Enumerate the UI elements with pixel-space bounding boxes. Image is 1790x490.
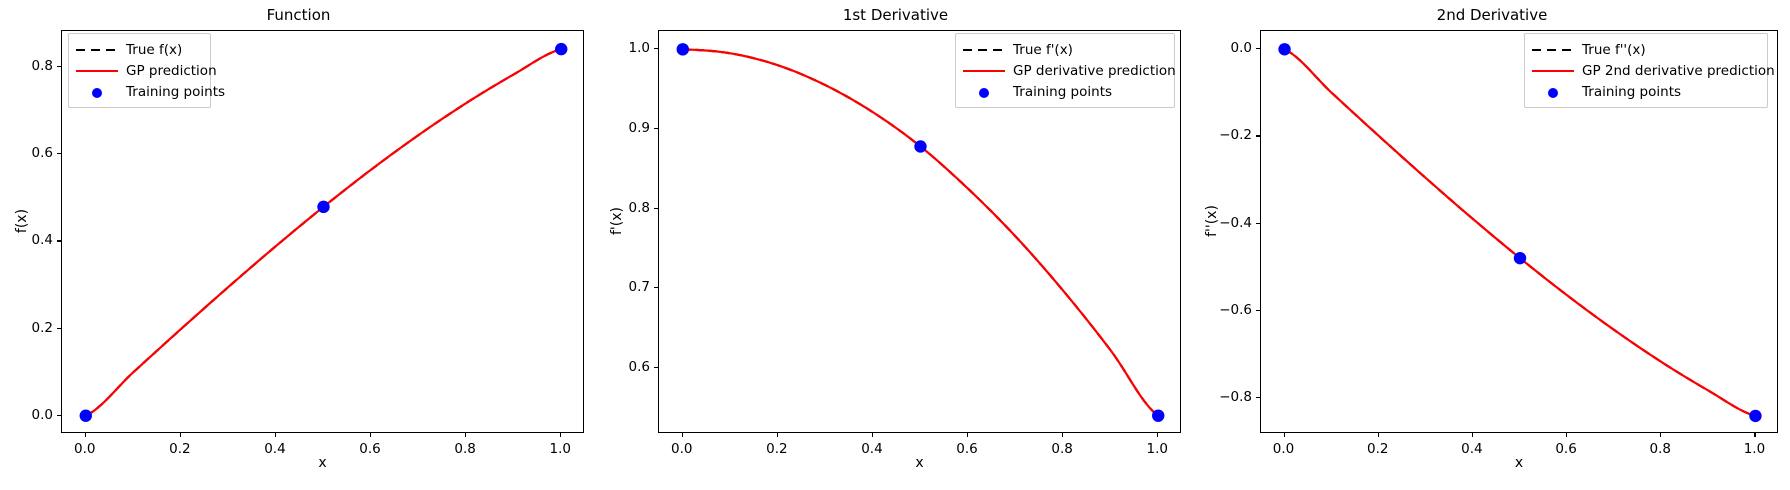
y-tick-mark — [654, 48, 658, 49]
x-tick-mark — [1566, 433, 1567, 437]
solid-line-icon-glyph — [963, 70, 1005, 72]
legend-label: GP prediction — [126, 63, 217, 79]
y-tick-label: 0.0 — [3, 407, 53, 423]
y-tick-mark — [654, 367, 658, 368]
dashed-line-icon — [1532, 42, 1574, 58]
training-point-marker — [1152, 409, 1164, 421]
y-axis-label: f(x) — [14, 191, 30, 251]
dashed-line-icon — [76, 42, 118, 58]
y-tick-mark — [1256, 310, 1260, 311]
solid-line-icon — [1532, 63, 1574, 79]
y-tick-mark — [654, 287, 658, 288]
dashed-line-icon-glyph — [76, 49, 118, 51]
panel-first-derivative: 1st Derivative 0.00.20.40.60.81.00.60.70… — [597, 0, 1194, 490]
y-tick-label: 1.0 — [600, 40, 650, 56]
x-tick-mark — [1754, 433, 1755, 437]
y-tick-mark — [1256, 135, 1260, 136]
dot-marker-icon — [1532, 84, 1574, 100]
y-tick-label: 0.0 — [1202, 40, 1252, 56]
x-axis-label: x — [1260, 455, 1778, 471]
x-tick-mark — [1062, 433, 1063, 437]
legend-label: True f''(x) — [1582, 42, 1646, 58]
y-tick-label: 0.8 — [600, 200, 650, 216]
figure-canvas: Function 0.00.20.40.60.81.00.00.20.40.60… — [0, 0, 1790, 490]
y-tick-label: −0.8 — [1202, 389, 1252, 405]
solid-line-icon — [963, 63, 1005, 79]
y-tick-mark — [57, 415, 61, 416]
training-point-marker — [914, 140, 926, 152]
x-tick-mark — [1157, 433, 1158, 437]
y-tick-label: 0.2 — [3, 320, 53, 336]
legend-item[interactable]: True f(x) — [76, 39, 203, 60]
training-point-marker — [677, 43, 689, 55]
x-tick-mark — [85, 433, 86, 437]
y-tick-mark — [1256, 223, 1260, 224]
x-tick-mark — [967, 433, 968, 437]
dot-marker-icon — [76, 84, 118, 100]
y-tick-mark — [57, 153, 61, 154]
y-tick-mark — [57, 66, 61, 67]
training-point-marker — [1514, 252, 1526, 264]
solid-line-icon — [76, 63, 118, 79]
x-tick-mark — [560, 433, 561, 437]
x-tick-mark — [1472, 433, 1473, 437]
legend[interactable]: True f''(x)GP 2nd derivative predictionT… — [1524, 33, 1768, 108]
solid-line-icon-glyph — [76, 70, 118, 72]
panel-title: 1st Derivative — [597, 6, 1194, 24]
y-tick-label: 0.6 — [600, 359, 650, 375]
legend-item[interactable]: Training points — [76, 81, 203, 102]
dashed-line-icon — [963, 42, 1005, 58]
y-tick-label: 0.7 — [600, 279, 650, 295]
dot-marker-icon — [963, 84, 1005, 100]
training-point-marker — [555, 43, 567, 55]
legend-label: Training points — [1582, 84, 1681, 100]
legend-item[interactable]: Training points — [1532, 81, 1760, 102]
x-tick-mark — [180, 433, 181, 437]
legend[interactable]: True f(x)GP predictionTraining points — [68, 33, 211, 108]
x-tick-mark — [1284, 433, 1285, 437]
panel-second-derivative: 2nd Derivative 0.00.20.40.60.81.00.0−0.2… — [1194, 0, 1790, 490]
legend-item[interactable]: True f'(x) — [963, 39, 1167, 60]
y-tick-mark — [654, 208, 658, 209]
legend-item[interactable]: GP prediction — [76, 60, 203, 81]
x-tick-mark — [1660, 433, 1661, 437]
solid-line-icon-glyph — [1532, 70, 1574, 72]
x-tick-mark — [872, 433, 873, 437]
legend-item[interactable]: Training points — [963, 81, 1167, 102]
legend-label: Training points — [1013, 84, 1112, 100]
x-tick-mark — [1378, 433, 1379, 437]
dot-marker-icon-glyph — [92, 88, 102, 98]
x-tick-mark — [777, 433, 778, 437]
y-axis-label: f''(x) — [1204, 191, 1220, 251]
y-tick-label: −0.6 — [1202, 302, 1252, 318]
training-point-marker — [1278, 43, 1290, 55]
y-tick-mark — [57, 328, 61, 329]
panel-title: Function — [0, 6, 597, 24]
x-tick-mark — [275, 433, 276, 437]
y-tick-mark — [654, 128, 658, 129]
legend-item[interactable]: GP 2nd derivative prediction — [1532, 60, 1760, 81]
panel-title: 2nd Derivative — [1194, 6, 1790, 24]
x-axis-label: x — [658, 455, 1181, 471]
legend-label: True f'(x) — [1013, 42, 1073, 58]
x-tick-mark — [370, 433, 371, 437]
legend-label: True f(x) — [126, 42, 182, 58]
legend-label: GP derivative prediction — [1013, 63, 1176, 79]
y-tick-label: 0.6 — [3, 145, 53, 161]
legend-label: GP 2nd derivative prediction — [1582, 63, 1775, 79]
x-axis-label: x — [61, 455, 584, 471]
y-tick-label: 0.8 — [3, 58, 53, 74]
y-tick-mark — [1256, 48, 1260, 49]
legend-item[interactable]: True f''(x) — [1532, 39, 1760, 60]
panel-function: Function 0.00.20.40.60.81.00.00.20.40.60… — [0, 0, 597, 490]
dashed-line-icon-glyph — [1532, 49, 1574, 51]
legend-label: Training points — [126, 84, 225, 100]
y-axis-label: f'(x) — [609, 191, 625, 251]
training-point-marker — [1749, 410, 1761, 422]
training-point-marker — [317, 201, 329, 213]
legend[interactable]: True f'(x)GP derivative predictionTraini… — [955, 33, 1175, 108]
x-tick-mark — [465, 433, 466, 437]
y-tick-label: 0.9 — [600, 120, 650, 136]
dot-marker-icon-glyph — [979, 88, 989, 98]
y-tick-mark — [57, 240, 61, 241]
x-tick-mark — [682, 433, 683, 437]
y-tick-mark — [1256, 397, 1260, 398]
dot-marker-icon-glyph — [1548, 88, 1558, 98]
y-tick-label: −0.2 — [1202, 127, 1252, 143]
legend-item[interactable]: GP derivative prediction — [963, 60, 1167, 81]
dashed-line-icon-glyph — [963, 49, 1005, 51]
training-point-marker — [80, 410, 92, 422]
